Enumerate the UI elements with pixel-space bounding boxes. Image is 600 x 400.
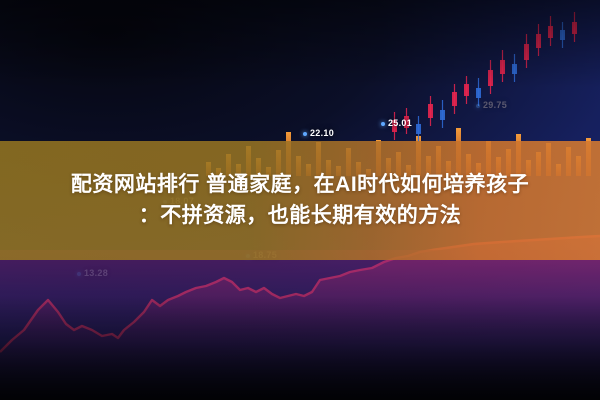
banner-image: 22.1025.0129.7518.0718.7513.28 配资网站排行 普通…	[0, 0, 600, 400]
value-label: 25.01	[388, 118, 412, 128]
candlestick-series	[392, 12, 577, 142]
title-line-1: 配资网站排行 普通家庭，在AI时代如何培养孩子	[71, 173, 529, 198]
value-label: 22.10	[310, 128, 334, 138]
title-block: 配资网站排行 普通家庭，在AI时代如何培养孩子 ：不拼资源，也能长期有效的方法	[0, 141, 600, 260]
value-label: 13.28	[84, 268, 108, 278]
value-label: 29.75	[483, 100, 507, 110]
title-line-2: ：不拼资源，也能长期有效的方法	[139, 204, 462, 229]
